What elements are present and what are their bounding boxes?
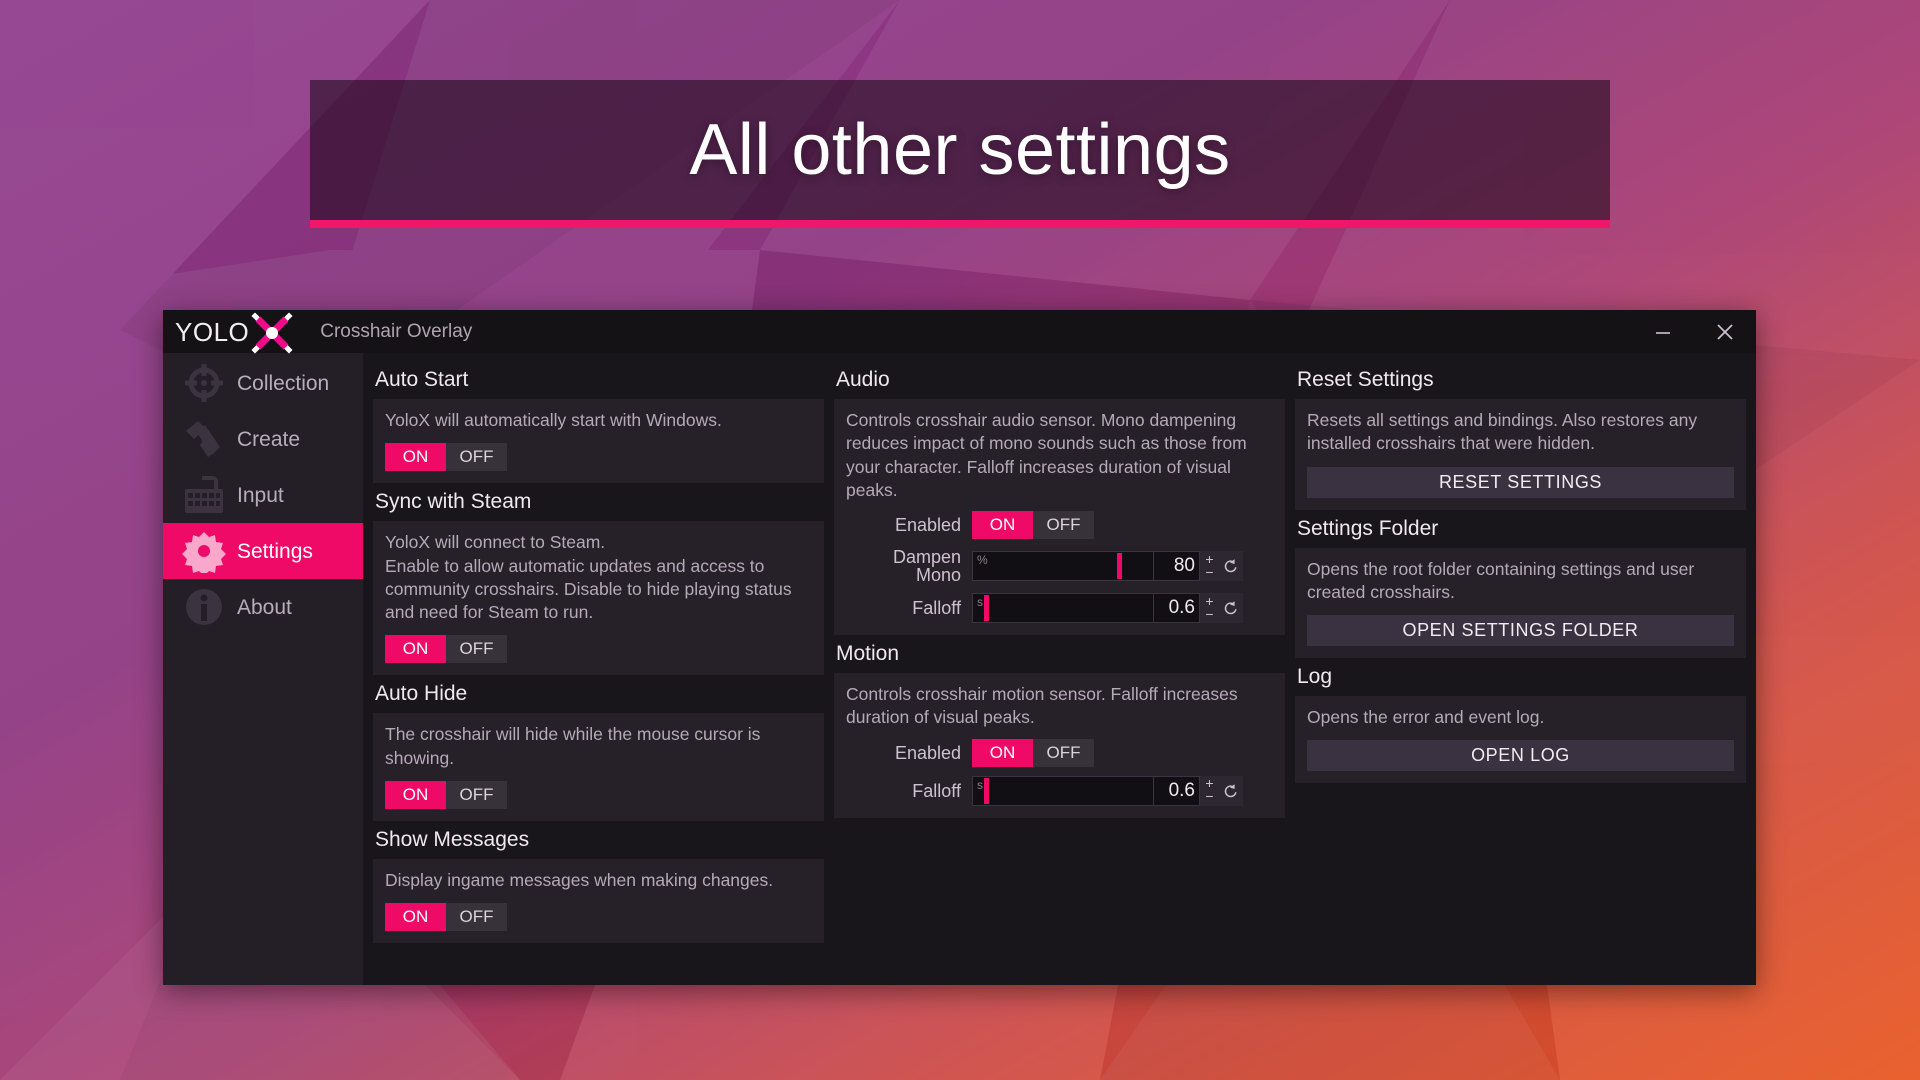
settings-column-right: Reset Settings Resets all settings and b… bbox=[1295, 361, 1746, 975]
control-label: Falloff bbox=[846, 782, 972, 800]
x-crosshair-icon bbox=[246, 307, 298, 359]
sidebar-item-label: About bbox=[237, 597, 292, 618]
section-panel-audio: Controls crosshair audio sensor. Mono da… bbox=[834, 399, 1285, 635]
slider-track[interactable]: s bbox=[972, 593, 1154, 623]
app-window: YOLO Crosshair Overlay bbox=[163, 310, 1756, 985]
dampen-mono-slider[interactable]: % 80 + − bbox=[972, 551, 1243, 581]
motion-enabled-toggle[interactable]: ON OFF bbox=[972, 739, 1094, 767]
section-description: YoloX will connect to Steam. Enable to a… bbox=[385, 531, 812, 624]
info-icon bbox=[177, 584, 231, 630]
minimize-button[interactable] bbox=[1632, 310, 1694, 353]
slider-stepper[interactable]: + − bbox=[1200, 551, 1219, 581]
slider-track[interactable]: % bbox=[972, 551, 1154, 581]
section-title-log: Log bbox=[1295, 658, 1746, 696]
close-button[interactable] bbox=[1694, 310, 1756, 353]
sidebar-item-label: Settings bbox=[237, 541, 313, 562]
motion-enabled-row: Enabled ON OFF bbox=[846, 739, 1273, 767]
section-panel-auto-hide: The crosshair will hide while the mouse … bbox=[373, 713, 824, 821]
slider-stepper[interactable]: + − bbox=[1200, 593, 1219, 623]
slide-title-underline bbox=[310, 220, 1610, 228]
toggle-on[interactable]: ON bbox=[385, 903, 446, 931]
app-subtitle: Crosshair Overlay bbox=[320, 321, 472, 343]
sync-with-steam-toggle[interactable]: ON OFF bbox=[385, 635, 507, 663]
slide-title-banner: All other settings bbox=[310, 80, 1610, 220]
slider-value[interactable]: 0.6 bbox=[1154, 593, 1200, 623]
slider-stepper[interactable]: + − bbox=[1200, 776, 1219, 806]
open-settings-folder-button[interactable]: OPEN SETTINGS FOLDER bbox=[1307, 615, 1734, 646]
audio-enabled-toggle[interactable]: ON OFF bbox=[972, 511, 1094, 539]
crosshair-icon bbox=[177, 360, 231, 406]
settings-column-left: Auto Start YoloX will automatically star… bbox=[373, 361, 824, 975]
section-title-audio: Audio bbox=[834, 361, 1285, 399]
auto-start-toggle[interactable]: ON OFF bbox=[385, 443, 507, 471]
sidebar-item-collection[interactable]: Collection bbox=[163, 355, 363, 411]
sidebar-nav: Collection Create bbox=[163, 353, 363, 985]
slider-thumb[interactable] bbox=[1117, 553, 1122, 579]
toggle-off[interactable]: OFF bbox=[1033, 739, 1094, 767]
section-panel-settings-folder: Opens the root folder containing setting… bbox=[1295, 548, 1746, 659]
slider-unit-label: s bbox=[977, 778, 983, 792]
auto-hide-toggle[interactable]: ON OFF bbox=[385, 781, 507, 809]
section-description: Controls crosshair motion sensor. Fallof… bbox=[846, 683, 1273, 730]
section-title-reset-settings: Reset Settings bbox=[1295, 361, 1746, 399]
logo-text: YOLO bbox=[175, 319, 249, 345]
toggle-off[interactable]: OFF bbox=[446, 635, 507, 663]
section-panel-reset-settings: Resets all settings and bindings. Also r… bbox=[1295, 399, 1746, 510]
slide-title: All other settings bbox=[689, 114, 1230, 186]
audio-dampen-mono-row: Dampen Mono % 80 + − bbox=[846, 548, 1273, 584]
settings-column-middle: Audio Controls crosshair audio sensor. M… bbox=[834, 361, 1285, 975]
decrement-button[interactable]: − bbox=[1205, 567, 1213, 579]
slider-thumb[interactable] bbox=[984, 778, 989, 804]
section-panel-show-messages: Display ingame messages when making chan… bbox=[373, 859, 824, 943]
slider-value[interactable]: 80 bbox=[1154, 551, 1200, 581]
audio-enabled-row: Enabled ON OFF bbox=[846, 511, 1273, 539]
reset-settings-button[interactable]: RESET SETTINGS bbox=[1307, 467, 1734, 498]
toggle-on[interactable]: ON bbox=[972, 739, 1033, 767]
toggle-on[interactable]: ON bbox=[385, 635, 446, 663]
motion-falloff-slider[interactable]: s 0.6 + − bbox=[972, 776, 1243, 806]
section-panel-log: Opens the error and event log. OPEN LOG bbox=[1295, 696, 1746, 783]
section-description: Display ingame messages when making chan… bbox=[385, 869, 812, 892]
hammer-icon bbox=[177, 416, 231, 462]
reset-arrow-icon[interactable] bbox=[1219, 593, 1243, 623]
motion-falloff-row: Falloff s 0.6 + − bbox=[846, 776, 1273, 806]
sidebar-item-create[interactable]: Create bbox=[163, 411, 363, 467]
section-title-settings-folder: Settings Folder bbox=[1295, 510, 1746, 548]
section-description: Opens the error and event log. bbox=[1307, 706, 1734, 729]
reset-arrow-icon[interactable] bbox=[1219, 776, 1243, 806]
sidebar-item-label: Collection bbox=[237, 373, 329, 394]
control-label: Dampen Mono bbox=[846, 548, 972, 584]
gear-icon bbox=[177, 528, 231, 574]
reset-arrow-icon[interactable] bbox=[1219, 551, 1243, 581]
toggle-on[interactable]: ON bbox=[385, 443, 446, 471]
toggle-off[interactable]: OFF bbox=[446, 443, 507, 471]
show-messages-toggle[interactable]: ON OFF bbox=[385, 903, 507, 931]
app-logo: YOLO bbox=[163, 310, 298, 353]
window-titlebar: YOLO Crosshair Overlay bbox=[163, 310, 1756, 353]
sidebar-item-input[interactable]: Input bbox=[163, 467, 363, 523]
section-description: YoloX will automatically start with Wind… bbox=[385, 409, 812, 432]
control-label: Enabled bbox=[846, 516, 972, 534]
keyboard-icon bbox=[177, 472, 231, 518]
window-controls bbox=[1632, 310, 1756, 353]
slider-value[interactable]: 0.6 bbox=[1154, 776, 1200, 806]
section-title-auto-start: Auto Start bbox=[373, 361, 824, 399]
sidebar-item-label: Input bbox=[237, 485, 284, 506]
toggle-off[interactable]: OFF bbox=[1033, 511, 1094, 539]
sidebar-item-label: Create bbox=[237, 429, 300, 450]
section-title-auto-hide: Auto Hide bbox=[373, 675, 824, 713]
sidebar-item-settings[interactable]: Settings bbox=[163, 523, 363, 579]
settings-content: Auto Start YoloX will automatically star… bbox=[363, 353, 1756, 985]
slider-unit-label: % bbox=[977, 553, 988, 567]
audio-falloff-row: Falloff s 0.6 + − bbox=[846, 593, 1273, 623]
section-description: Opens the root folder containing setting… bbox=[1307, 558, 1734, 605]
decrement-button[interactable]: − bbox=[1205, 791, 1213, 803]
section-title-show-messages: Show Messages bbox=[373, 821, 824, 859]
toggle-on[interactable]: ON bbox=[972, 511, 1033, 539]
control-label: Falloff bbox=[846, 599, 972, 617]
decrement-button[interactable]: − bbox=[1205, 609, 1213, 621]
toggle-off[interactable]: OFF bbox=[446, 903, 507, 931]
toggle-off[interactable]: OFF bbox=[446, 781, 507, 809]
audio-falloff-slider[interactable]: s 0.6 + − bbox=[972, 593, 1243, 623]
toggle-on[interactable]: ON bbox=[385, 781, 446, 809]
slider-thumb[interactable] bbox=[984, 595, 989, 621]
section-panel-auto-start: YoloX will automatically start with Wind… bbox=[373, 399, 824, 483]
section-description: The crosshair will hide while the mouse … bbox=[385, 723, 812, 770]
section-panel-motion: Controls crosshair motion sensor. Fallof… bbox=[834, 673, 1285, 818]
sidebar-item-about[interactable]: About bbox=[163, 579, 363, 635]
section-title-motion: Motion bbox=[834, 635, 1285, 673]
control-label: Enabled bbox=[846, 744, 972, 762]
slider-track[interactable]: s bbox=[972, 776, 1154, 806]
section-description: Resets all settings and bindings. Also r… bbox=[1307, 409, 1734, 456]
slider-unit-label: s bbox=[977, 595, 983, 609]
section-description: Controls crosshair audio sensor. Mono da… bbox=[846, 409, 1273, 502]
open-log-button[interactable]: OPEN LOG bbox=[1307, 740, 1734, 771]
section-title-sync-with-steam: Sync with Steam bbox=[373, 483, 824, 521]
section-panel-sync-with-steam: YoloX will connect to Steam. Enable to a… bbox=[373, 521, 824, 675]
